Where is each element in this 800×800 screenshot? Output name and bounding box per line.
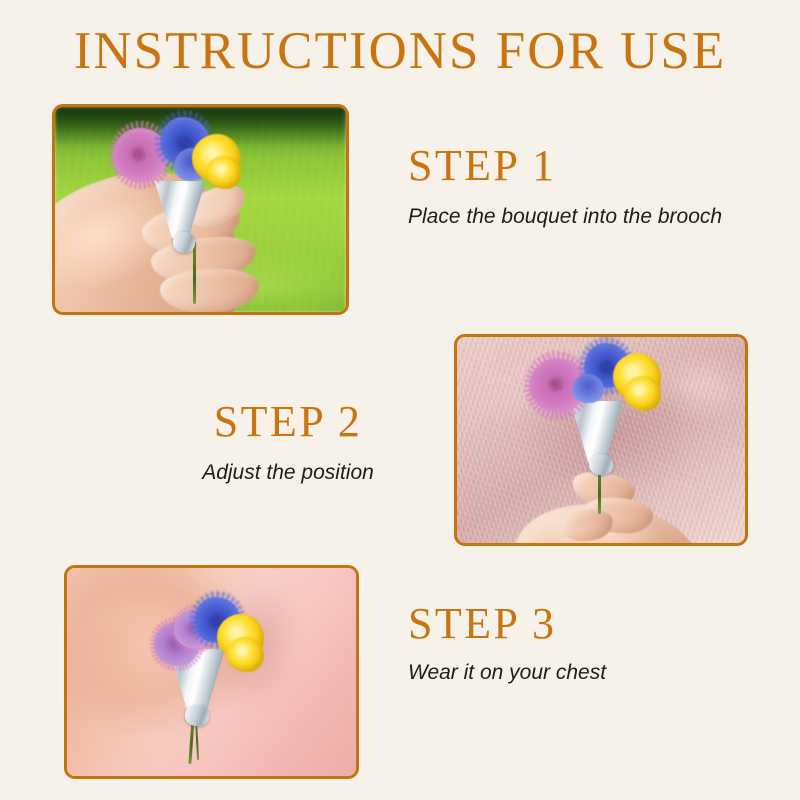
- blue-petal: [572, 374, 604, 403]
- yellow-flower: [624, 376, 661, 411]
- step-2-title: STEP 2: [160, 398, 416, 446]
- step-3-description: Wear it on your chest: [408, 660, 738, 685]
- step-1-photo: [52, 104, 349, 315]
- step-1-photo-scene: [55, 107, 346, 312]
- step-2-photo-scene: [457, 337, 745, 543]
- brooch-knot: [185, 705, 208, 726]
- step-1-title: STEP 1: [408, 142, 748, 190]
- step-2-description: Adjust the position: [160, 460, 416, 485]
- yellow-flower: [226, 637, 264, 672]
- step-1-block: STEP 1 Place the bouquet into the brooch: [408, 142, 748, 229]
- instructions-page: INSTRUCTIONS FOR USE STEP 1 Place the bo…: [0, 0, 800, 800]
- step-1-description: Place the bouquet into the brooch: [408, 204, 738, 229]
- step-3-photo-scene: [67, 568, 356, 776]
- brooch-knot: [173, 232, 195, 253]
- step-2-photo: [454, 334, 748, 546]
- brooch-knot: [589, 454, 612, 475]
- step-2-block: STEP 2 Adjust the position: [160, 398, 416, 485]
- step-3-title: STEP 3: [408, 600, 738, 648]
- step-3-block: STEP 3 Wear it on your chest: [408, 600, 738, 685]
- step-3-photo: [64, 565, 359, 779]
- flower-stem: [193, 242, 196, 304]
- page-title: INSTRUCTIONS FOR USE: [0, 22, 800, 80]
- yellow-flower: [206, 156, 241, 189]
